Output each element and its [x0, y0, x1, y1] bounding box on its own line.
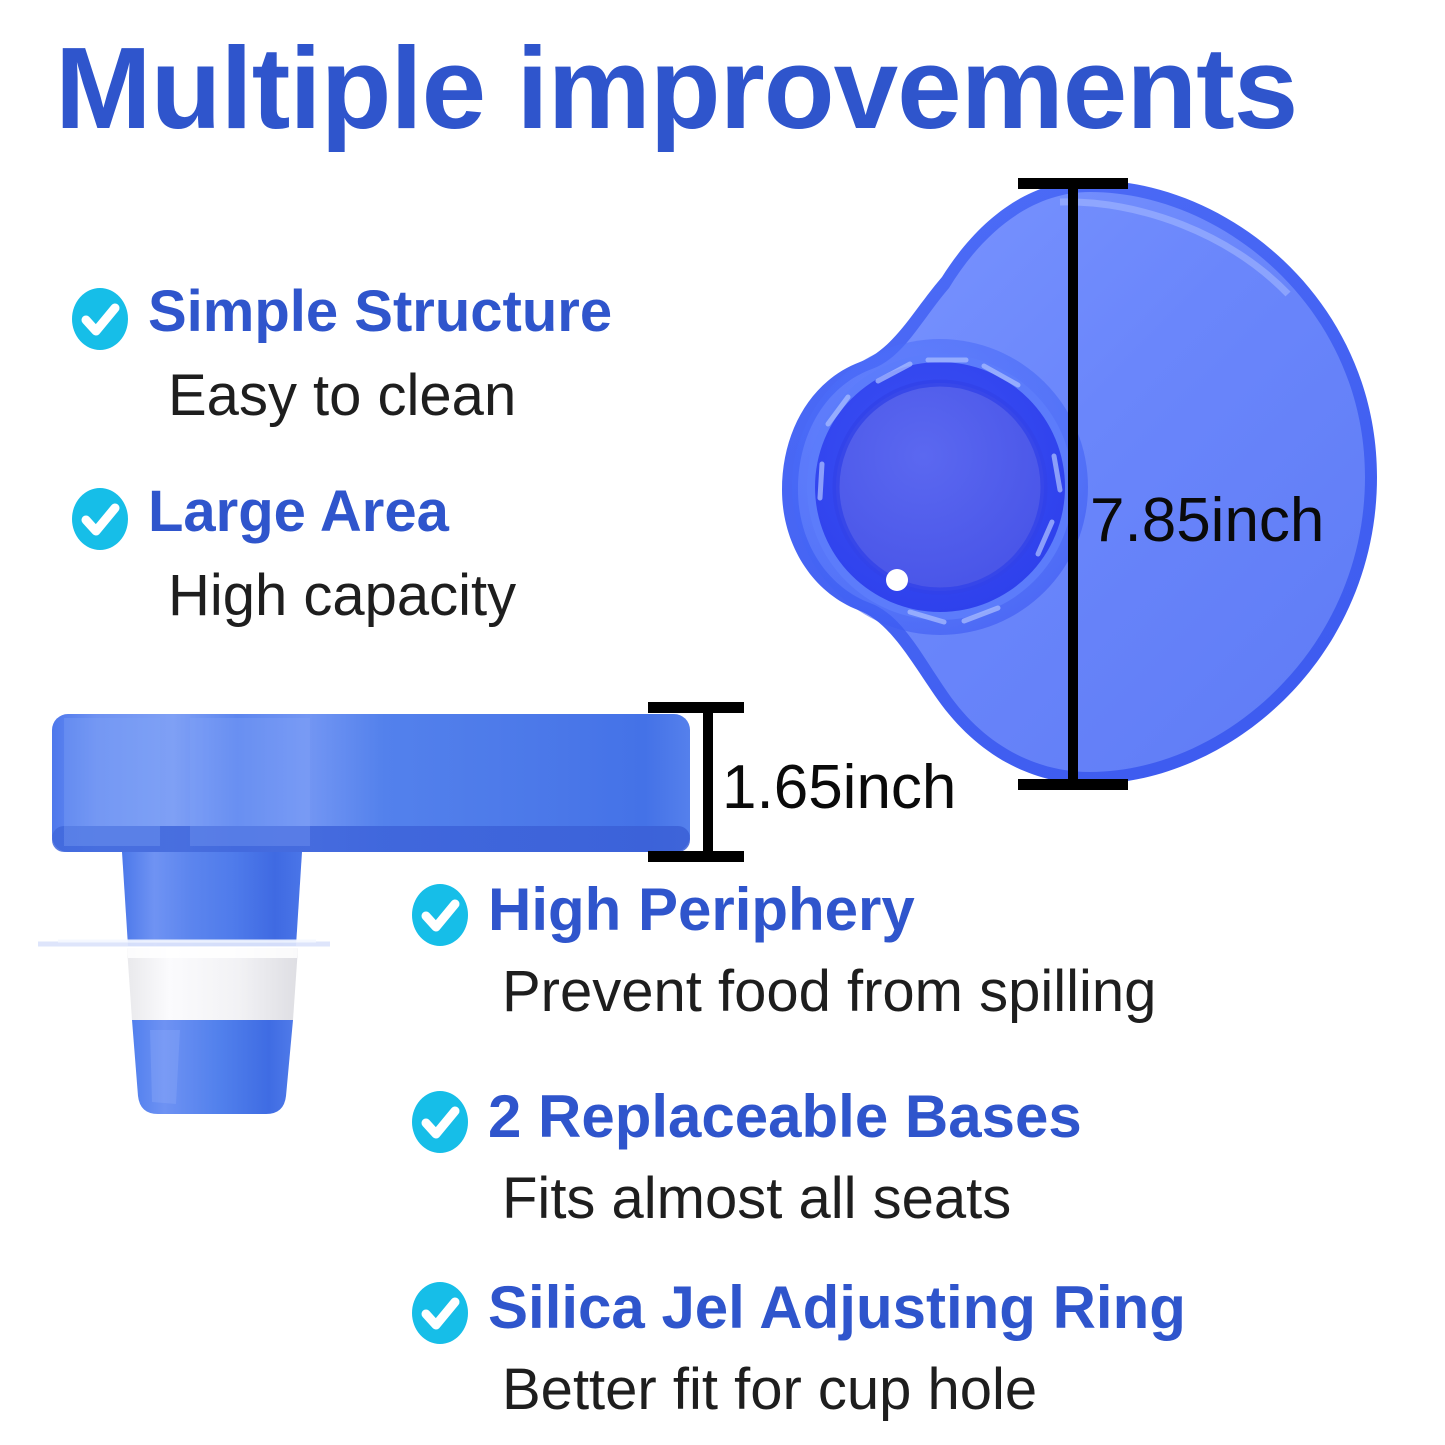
dimension-label-thickness: 1.65inch: [722, 752, 956, 823]
feature-large-area: Large Area High capacity: [72, 482, 516, 627]
feature-title: Silica Jel Adjusting Ring: [488, 1276, 1186, 1339]
silica-jel-adjusting-ring: [127, 948, 298, 1020]
dimension-stem: [703, 702, 713, 862]
dimension-label-diameter: 7.85inch: [1090, 485, 1324, 556]
feature-heading-row: Simple Structure: [72, 282, 612, 350]
feature-high-periphery: High Periphery Prevent food from spillin…: [412, 878, 1156, 1023]
check-circle-icon: [72, 288, 128, 350]
feature-replaceable-bases: 2 Replaceable Bases Fits almost all seat…: [412, 1085, 1082, 1230]
dimension-cap-bottom: [648, 851, 744, 862]
feature-subtitle: Fits almost all seats: [502, 1169, 1082, 1230]
feature-silica-jel-ring: Silica Jel Adjusting Ring Better fit for…: [412, 1276, 1186, 1421]
feature-heading-row: Large Area: [72, 482, 516, 550]
feature-title: Large Area: [148, 482, 449, 543]
check-circle-icon: [412, 884, 468, 946]
check-circle-icon: [412, 1282, 468, 1344]
feature-heading-row: 2 Replaceable Bases: [412, 1085, 1082, 1153]
feature-simple-structure: Simple Structure Easy to clean: [72, 282, 612, 427]
feature-title: 2 Replaceable Bases: [488, 1085, 1082, 1148]
feature-subtitle: High capacity: [168, 566, 516, 627]
dimension-line-diameter: [1018, 178, 1128, 790]
cup-holder-stem: [38, 852, 330, 1114]
socket-highlight-dot: [886, 569, 908, 591]
dimension-cap-top: [648, 702, 744, 713]
page-title: Multiple improvements: [55, 30, 1395, 146]
feature-subtitle: Prevent food from spilling: [502, 962, 1156, 1023]
feature-heading-row: High Periphery: [412, 878, 1156, 946]
dimension-cap-bottom: [1018, 779, 1128, 790]
feature-heading-row: Silica Jel Adjusting Ring: [412, 1276, 1186, 1344]
tray-slab: [52, 714, 690, 852]
check-circle-icon: [72, 488, 128, 550]
feature-title: High Periphery: [488, 878, 915, 941]
dimension-stem: [1068, 178, 1078, 790]
feature-subtitle: Better fit for cup hole: [502, 1360, 1186, 1421]
check-circle-icon: [412, 1091, 468, 1153]
infographic-canvas: Multiple improvements Simple Structure E…: [0, 0, 1445, 1445]
feature-subtitle: Easy to clean: [168, 366, 612, 427]
feature-title: Simple Structure: [148, 282, 612, 343]
